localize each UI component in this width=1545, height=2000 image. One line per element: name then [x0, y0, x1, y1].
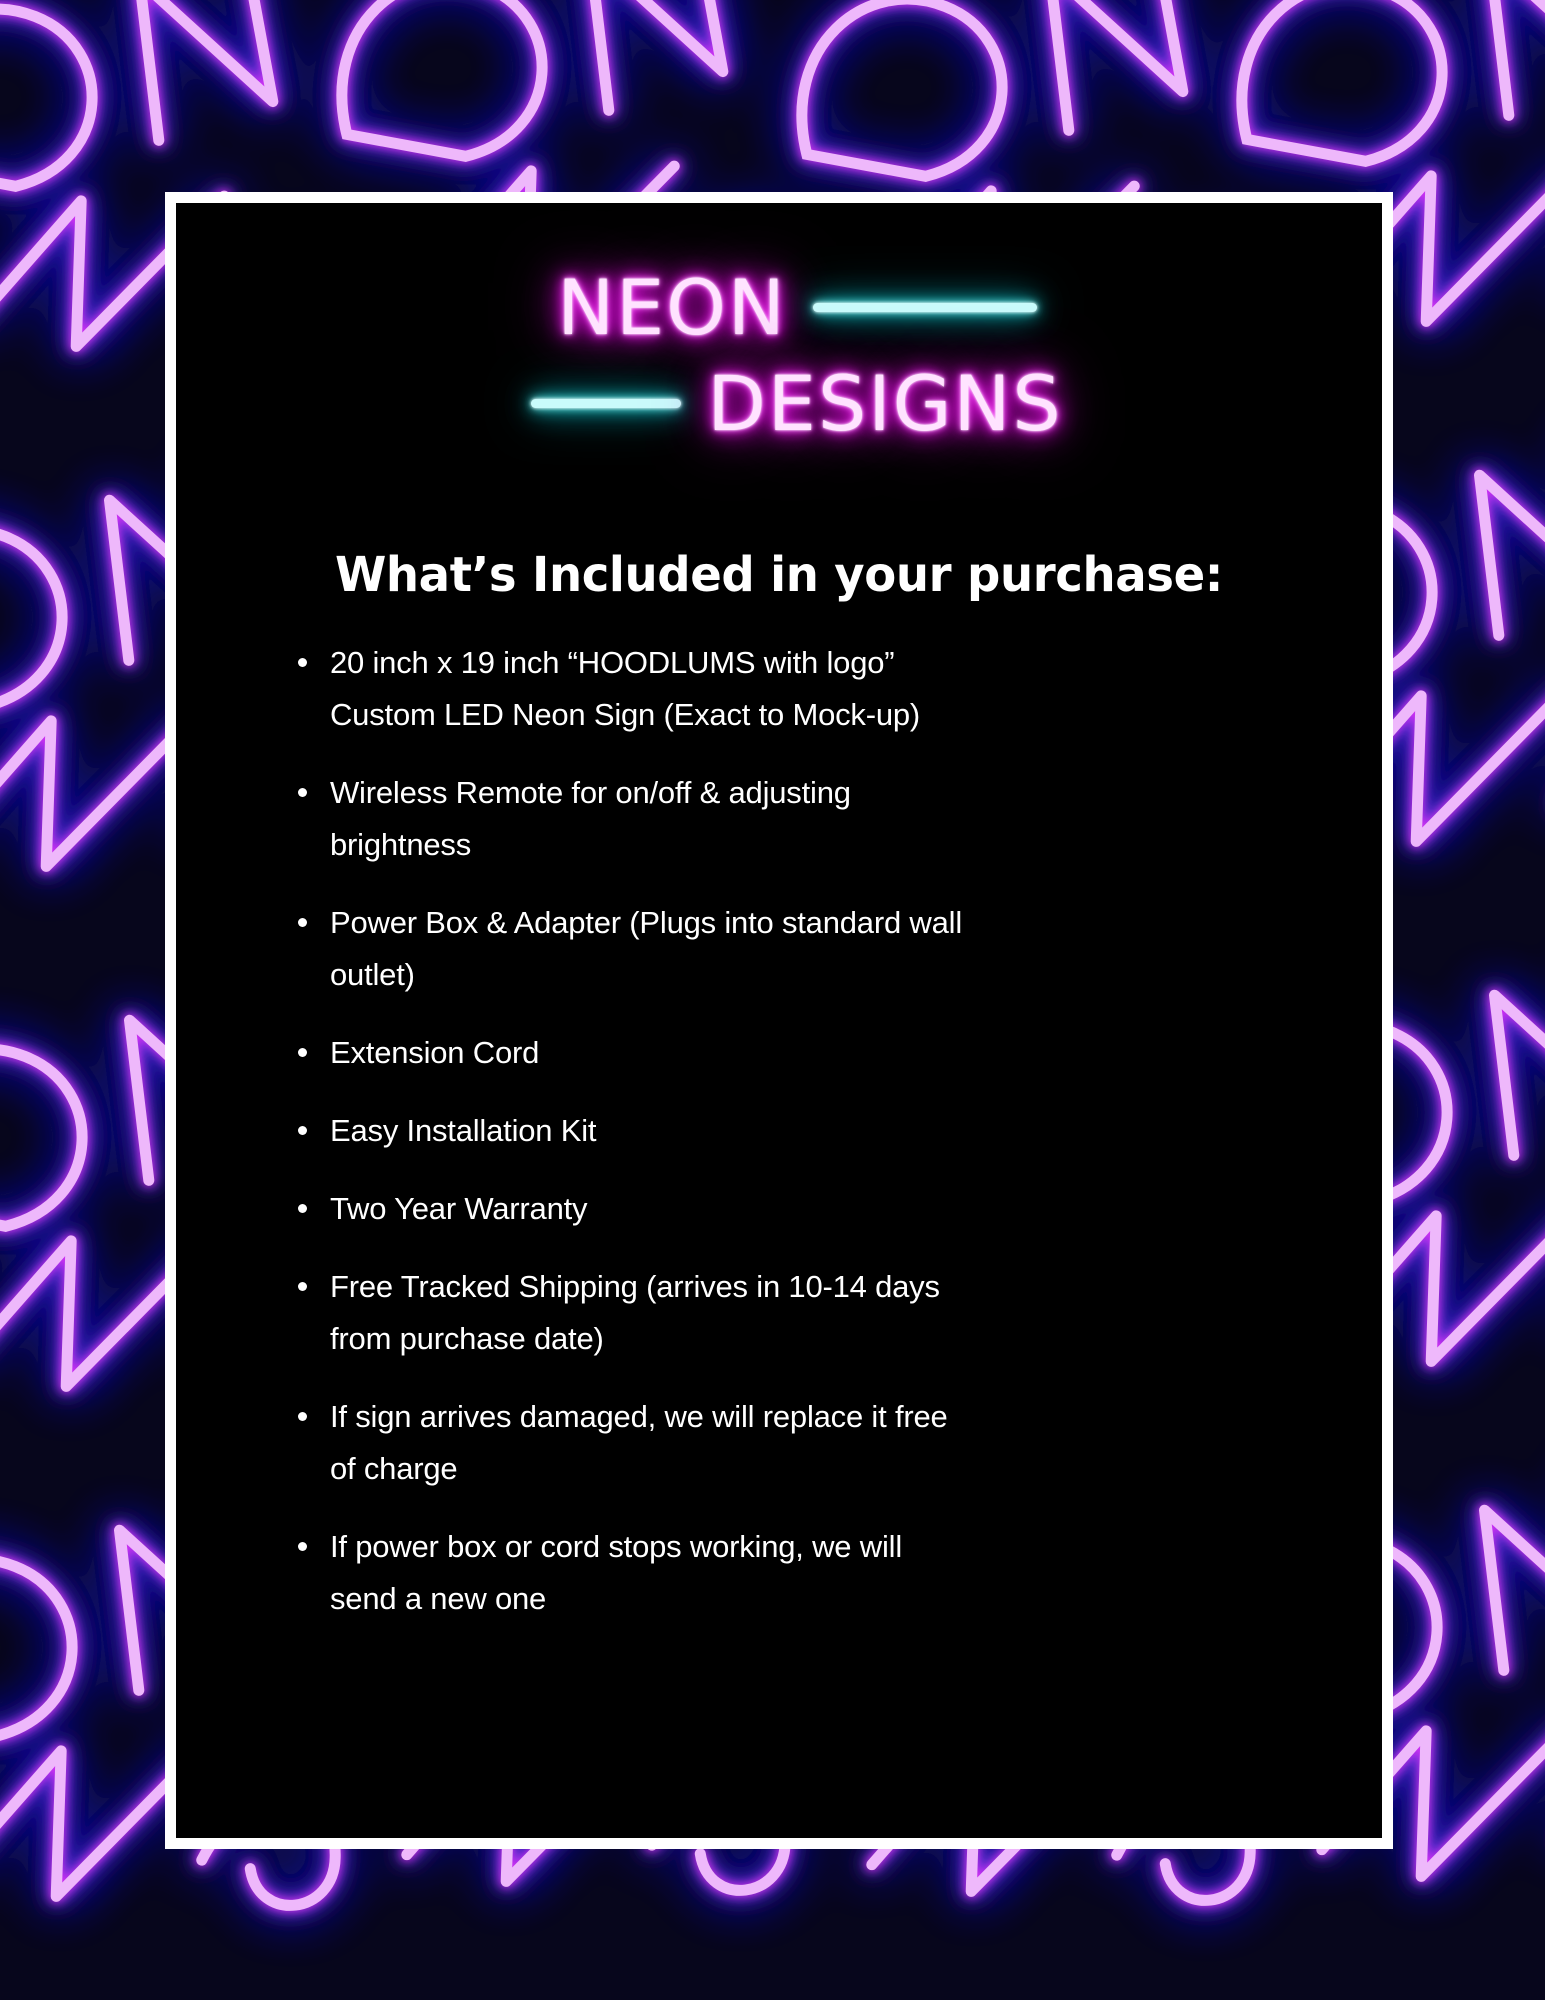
bullet-dot-icon: [298, 1542, 307, 1551]
bullet-dot-icon: [298, 658, 307, 667]
logo-row-top: NEON: [194, 263, 1382, 352]
list-item: 20 inch x 19 inch “HOODLUMS with logo” C…: [294, 637, 964, 741]
logo-word-designs: DESIGNS: [707, 359, 1062, 448]
list-item: Two Year Warranty: [294, 1183, 964, 1235]
poster-card: NEON DESIGNS What’s Included in your pur…: [176, 203, 1382, 1838]
list-item-label: If power box or cord stops working, we w…: [330, 1529, 902, 1616]
list-item-label: Easy Installation Kit: [330, 1113, 596, 1148]
bullet-dot-icon: [298, 1126, 307, 1135]
logo-row-bottom: DESIGNS: [194, 359, 1382, 448]
poster-page: NEON DESIGNS What’s Included in your pur…: [0, 0, 1545, 2000]
bullet-dot-icon: [298, 1048, 307, 1057]
list-item: Power Box & Adapter (Plugs into standard…: [294, 897, 964, 1001]
list-item: Easy Installation Kit: [294, 1105, 964, 1157]
list-item-label: Free Tracked Shipping (arrives in 10-14 …: [330, 1269, 940, 1356]
list-item: Wireless Remote for on/off & adjusting b…: [294, 767, 964, 871]
bullet-dot-icon: [298, 1204, 307, 1213]
list-item-label: Power Box & Adapter (Plugs into standard…: [330, 905, 962, 992]
poster-card-frame: NEON DESIGNS What’s Included in your pur…: [165, 192, 1393, 1849]
page-title: What’s Included in your purchase:: [194, 547, 1364, 603]
logo-word-neon: NEON: [557, 263, 787, 352]
list-item-label: If sign arrives damaged, we will replace…: [330, 1399, 948, 1486]
list-item-label: Extension Cord: [330, 1035, 539, 1070]
list-item: Extension Cord: [294, 1027, 964, 1079]
bullet-dot-icon: [298, 788, 307, 797]
list-item: Free Tracked Shipping (arrives in 10-14 …: [294, 1261, 964, 1365]
bullet-dot-icon: [298, 1412, 307, 1421]
list-item-label: Two Year Warranty: [330, 1191, 587, 1226]
list-item-label: 20 inch x 19 inch “HOODLUMS with logo” C…: [330, 645, 920, 732]
neon-designs-logo: NEON DESIGNS: [176, 241, 1382, 501]
list-item: If sign arrives damaged, we will replace…: [294, 1391, 964, 1495]
bullet-dot-icon: [298, 918, 307, 927]
included-items-list: 20 inch x 19 inch “HOODLUMS with logo” C…: [176, 637, 1056, 1625]
cyan-neon-bar-left-icon: [531, 399, 681, 408]
list-item: If power box or cord stops working, we w…: [294, 1521, 964, 1625]
list-item-label: Wireless Remote for on/off & adjusting b…: [330, 775, 851, 862]
cyan-neon-bar-right-icon: [813, 303, 1037, 312]
bullet-dot-icon: [298, 1282, 307, 1291]
